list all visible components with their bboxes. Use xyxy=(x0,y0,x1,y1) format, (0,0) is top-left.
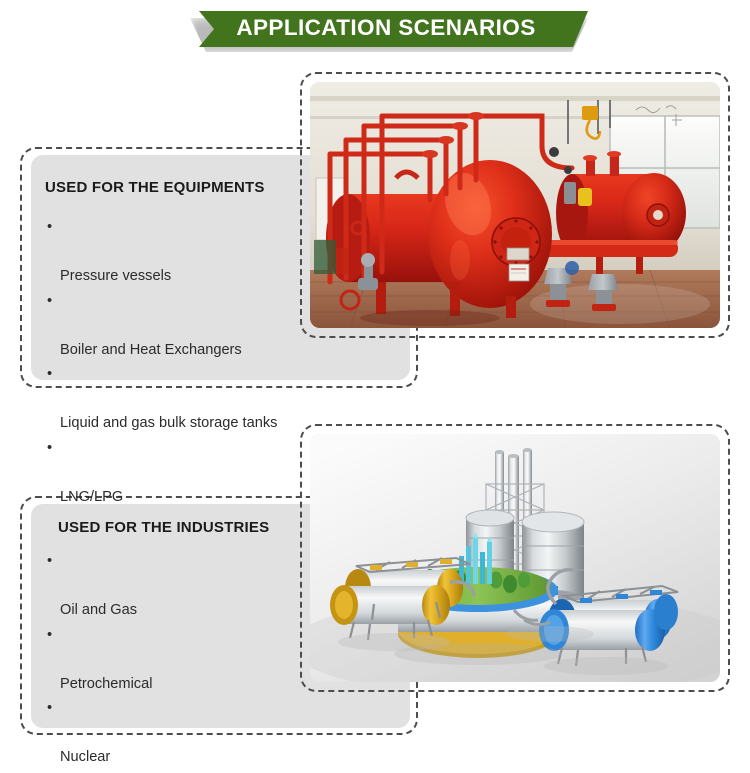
bullet-icon: • xyxy=(47,770,52,773)
bullet-icon: • xyxy=(47,289,52,314)
bullet-icon: • xyxy=(47,215,52,240)
header-banner: APPLICATION SCENARIOS xyxy=(184,11,588,47)
list-item: • Aerospace and Defence xyxy=(47,770,347,773)
image-plant-photo xyxy=(310,434,720,682)
list-item-label: LNG/LPG xyxy=(60,489,123,505)
list-item: • Nuclear xyxy=(47,696,347,770)
application-scenarios-page: APPLICATION SCENARIOS USED FOR THE EQUIP… xyxy=(0,0,750,773)
bullet-icon: • xyxy=(47,436,52,461)
bullet-icon: • xyxy=(47,696,52,721)
panel-industries-heading: USED FOR THE INDUSTRIES xyxy=(58,519,269,536)
bullet-icon: • xyxy=(47,623,52,648)
page-title: APPLICATION SCENARIOS xyxy=(236,17,535,41)
list-item-label: Oil and Gas xyxy=(60,602,137,618)
panel-equipments-heading: USED FOR THE EQUIPMENTS xyxy=(45,179,265,196)
image-vessels-photo xyxy=(310,82,720,328)
list-item-label: Liquid and gas bulk storage tanks xyxy=(60,415,277,431)
bullet-icon: • xyxy=(47,549,52,574)
petrochemical-plant-render-icon xyxy=(310,434,720,682)
list-item-label: Nuclear xyxy=(60,749,110,765)
bullet-icon: • xyxy=(47,362,52,387)
list-item: • Liquid and gas bulk storage tanks xyxy=(47,362,347,436)
pressure-vessel-photo-icon xyxy=(310,82,720,328)
list-item-label: Pressure vessels xyxy=(60,268,171,284)
list-item-label: Petrochemical xyxy=(60,676,152,692)
header-ribbon-shape: APPLICATION SCENARIOS xyxy=(184,11,588,47)
list-item-label: Boiler and Heat Exchangers xyxy=(60,342,242,358)
